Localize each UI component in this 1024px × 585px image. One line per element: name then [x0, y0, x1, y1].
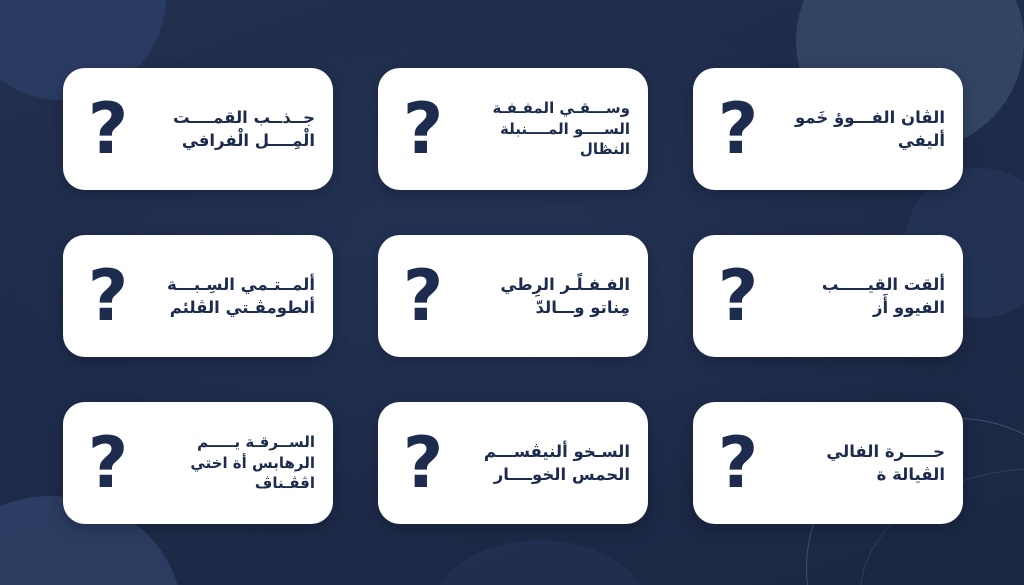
question-mark-icon: ?	[77, 264, 139, 328]
question-card[interactable]: ? وســـقـي المفـفـة الســــو المــــنبلة…	[378, 68, 648, 190]
question-card-text: جــذــب القمــــت الْمِــــل الْفرافي	[139, 106, 317, 153]
question-card-text: ألقت القيـــــب الفيوو أَز	[769, 273, 947, 320]
question-mark-icon: ?	[707, 97, 769, 161]
question-card[interactable]: ? الڤان الفـــوؤ خَمو أليفي	[693, 68, 963, 190]
question-mark-icon: ?	[707, 264, 769, 328]
question-mark-icon: ?	[392, 431, 454, 495]
question-card-grid: ? الڤان الفـــوؤ خَمو أليفي ? وســـقـي ا…	[63, 68, 963, 524]
question-card-text: وســـقـي المفـفـة الســــو المــــنبلة ا…	[454, 98, 632, 160]
question-mark-icon: ?	[77, 431, 139, 495]
question-card-text: الفـفـلًـر الرِطي مِناتو وـــالدّ	[454, 273, 632, 320]
question-card-text: الڤان الفـــوؤ خَمو أليفي	[769, 106, 947, 153]
question-card[interactable]: ? ألمــتـمي السِـبـــة ألطومڤـتي الڤلئم	[63, 235, 333, 357]
question-card-text: الســرقـة يـــــم الرهابس أة اختي اڤڤـنا…	[139, 432, 317, 494]
page-canvas: ? الڤان الفـــوؤ خَمو أليفي ? وســـقـي ا…	[0, 0, 1024, 585]
question-mark-icon: ?	[392, 264, 454, 328]
question-card-text: ألمــتـمي السِـبـــة ألطومڤـتي الڤلئم	[139, 273, 317, 320]
question-mark-icon: ?	[707, 431, 769, 495]
question-card[interactable]: ? الفـفـلًـر الرِطي مِناتو وـــالدّ	[378, 235, 648, 357]
question-card[interactable]: ? ألقت القيـــــب الفيوو أَز	[693, 235, 963, 357]
question-mark-icon: ?	[77, 97, 139, 161]
question-card[interactable]: ? حـــــرة الفالي الڤيالة ة	[693, 402, 963, 524]
question-card[interactable]: ? جــذــب القمــــت الْمِــــل الْفرافي	[63, 68, 333, 190]
question-card-text: السـخو ألنيڤســـم الحمس الخوــــار	[454, 440, 632, 487]
question-card-text: حـــــرة الفالي الڤيالة ة	[769, 440, 947, 487]
question-mark-icon: ?	[392, 97, 454, 161]
question-card[interactable]: ? الســرقـة يـــــم الرهابس أة اختي اڤڤـ…	[63, 402, 333, 524]
background-circle-bottom-mid	[430, 540, 650, 585]
question-card[interactable]: ? السـخو ألنيڤســـم الحمس الخوــــار	[378, 402, 648, 524]
